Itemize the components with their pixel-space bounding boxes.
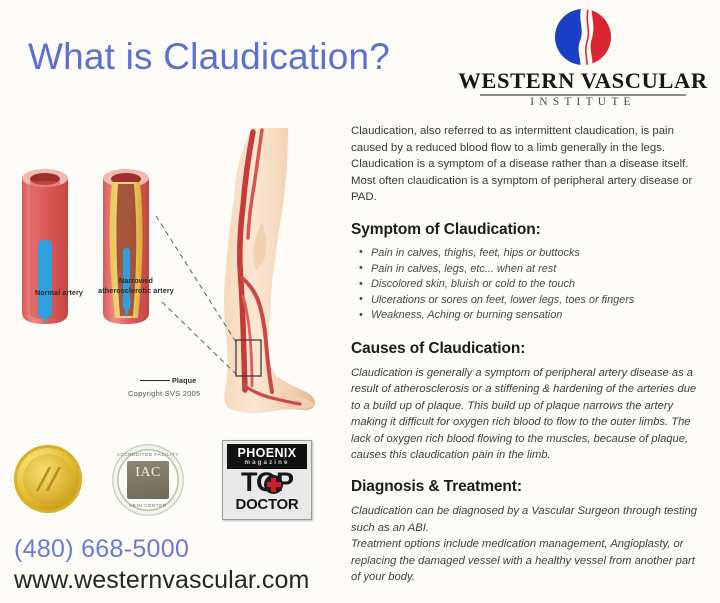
normal-artery-graphic: [22, 169, 68, 324]
iac-core: IAC: [127, 461, 169, 499]
gold-seal-emblem: [30, 467, 66, 491]
plaque-leader-line: [140, 380, 170, 381]
page-title: What is Claudication?: [28, 36, 390, 78]
website-url[interactable]: www.westernvascular.com: [14, 566, 309, 595]
brand-logo: WESTERN VASCULAR INSTITUTE: [452, 8, 714, 112]
list-item: Pain in calves, thighs, feet, hips or bu…: [371, 246, 707, 262]
accreditation-badges: ACCREDITED FACILITY IAC VEIN CENTER PHOE…: [10, 440, 310, 520]
infographic-page: What is Claudication? WESTERN VASCULAR I…: [0, 0, 720, 603]
iac-ring-top-text: ACCREDITED FACILITY: [112, 452, 184, 457]
causes-paragraph: Claudication is generally a symptom of p…: [351, 365, 707, 463]
diagnosis-paragraph-2: Treatment options include medication man…: [351, 536, 707, 585]
leg-graphic: [224, 128, 315, 413]
iac-accredited-facility-seal-icon: ACCREDITED FACILITY IAC VEIN CENTER: [112, 444, 184, 516]
gold-quality-seal-icon: [14, 445, 82, 513]
phoenix-top-doctor-badge: PHOENIX magazine TOP DOCTOR: [222, 440, 312, 520]
content-column: Claudication, also referred to as interm…: [351, 123, 707, 585]
phoenix-magazine-text: magazine: [227, 459, 307, 466]
symptoms-heading: Symptom of Claudication:: [351, 221, 707, 239]
iac-ring-bottom-text: VEIN CENTER: [112, 503, 184, 508]
list-item: Weakness, Aching or burning sensation: [371, 308, 707, 324]
phone-number[interactable]: (480) 668-5000: [14, 535, 189, 564]
brand-subtitle: INSTITUTE: [452, 96, 714, 108]
phoenix-header-bar: PHOENIX magazine: [227, 444, 307, 469]
intro-paragraph: Claudication, also referred to as interm…: [351, 123, 707, 206]
narrowed-artery-graphic: [103, 169, 149, 324]
medical-cross-icon: [264, 475, 283, 494]
list-item: Discolored skin, bluish or cold to the t…: [371, 277, 707, 293]
label-plaque: Plaque: [172, 376, 218, 386]
copyright-text: Copyright SVS 2005: [128, 389, 200, 398]
brand-name: WESTERN VASCULAR: [452, 68, 714, 94]
phoenix-name-text: PHOENIX: [227, 446, 307, 460]
iac-core-text: IAC: [127, 465, 169, 481]
western-vascular-emblem-icon: [552, 8, 614, 66]
phoenix-doctor-text: DOCTOR: [223, 496, 311, 513]
diagnosis-paragraph-1: Claudication can be diagnosed by a Vascu…: [351, 503, 707, 536]
causes-heading: Causes of Claudication:: [351, 340, 707, 358]
symptoms-list: Pain in calves, thighs, feet, hips or bu…: [351, 246, 707, 324]
label-normal-artery: Normal artery: [28, 288, 90, 298]
artery-leg-diagram: Normal artery Narrowed atherosclerotic a…: [0, 128, 350, 428]
label-narrowed-artery: Narrowed atherosclerotic artery: [96, 276, 176, 295]
list-item: Ulcerations or sores on feet, lower legs…: [371, 293, 707, 309]
list-item: Pain in calves, legs, etc... when at res…: [371, 262, 707, 278]
diagnosis-heading: Diagnosis & Treatment:: [351, 478, 707, 496]
